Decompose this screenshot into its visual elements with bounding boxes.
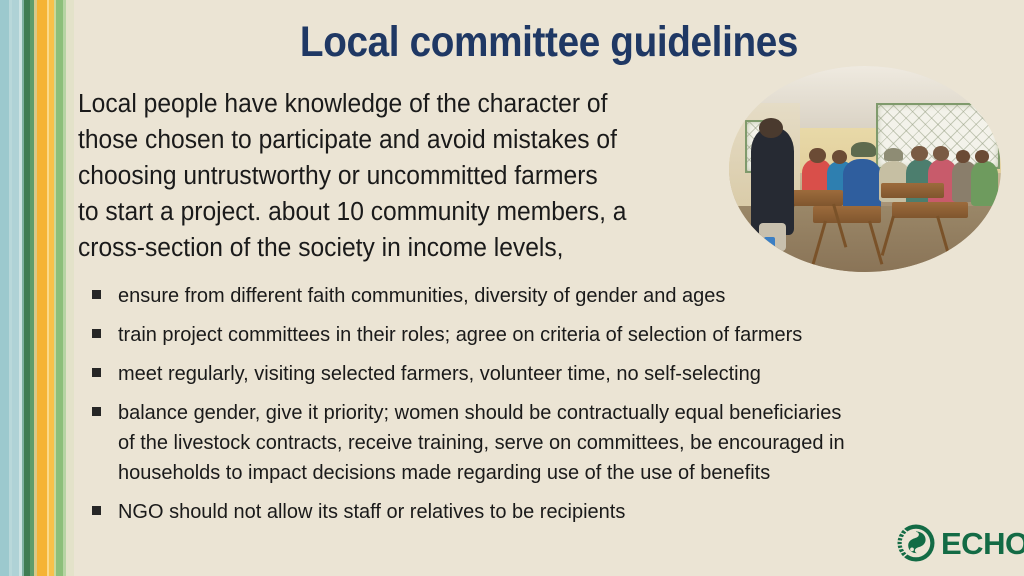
list-item-line: meet regularly, visiting selected farmer…: [118, 359, 988, 389]
square-bullet-icon: [92, 407, 101, 416]
photo-person-head: [933, 146, 949, 160]
intro-line: those chosen to participate and avoid mi…: [78, 122, 696, 158]
classroom-photo: [729, 66, 1001, 272]
list-item-line: NGO should not allow its staff or relati…: [118, 497, 988, 527]
echo-logo: ECHO®: [896, 520, 1014, 566]
photo-person-head: [956, 150, 970, 162]
slide-canvas: Local committee guidelines Local people …: [0, 0, 1024, 576]
photo-person-seated: [843, 159, 881, 211]
intro-paragraph: Local people have knowledge of the chara…: [78, 86, 696, 266]
stripe-15: [66, 0, 74, 576]
list-item: train project committees in their roles;…: [92, 320, 1010, 350]
photo-person-seated: [971, 161, 998, 206]
photo-water-bottle: [764, 237, 775, 256]
intro-line: to start a project. about 10 community m…: [78, 194, 696, 230]
echo-wordmark: ECHO®: [941, 528, 1024, 559]
square-bullet-icon: [92, 329, 101, 338]
square-bullet-icon: [92, 290, 101, 299]
guidelines-bullet-list: ensure from different faith communities,…: [92, 281, 1010, 536]
list-item-text: ensure from different faith communities,…: [118, 281, 988, 311]
list-item-text: meet regularly, visiting selected farmer…: [118, 359, 988, 389]
list-item-text: train project committees in their roles;…: [118, 320, 988, 350]
slide-title: Local committee guidelines: [122, 18, 977, 67]
list-item-text: balance gender, give it priority; women …: [118, 398, 988, 488]
intro-line: Local people have knowledge of the chara…: [78, 86, 696, 122]
square-bullet-icon: [92, 368, 101, 377]
list-item-line: ensure from different faith communities,…: [118, 281, 988, 311]
photo-person-head: [809, 148, 825, 162]
list-item-text: NGO should not allow its staff or relati…: [118, 497, 988, 527]
list-item: balance gender, give it priority; women …: [92, 398, 1010, 488]
photo-person-head: [975, 150, 989, 162]
intro-line: choosing untrustworthy or uncommitted fa…: [78, 158, 696, 194]
echo-wordmark-text: ECHO: [941, 526, 1024, 561]
square-bullet-icon: [92, 506, 101, 515]
stripe-3: [12, 0, 19, 576]
list-item-line: of the livestock contracts, receive trai…: [118, 428, 988, 458]
photo-person-cap: [884, 148, 903, 160]
photo-desk: [892, 202, 968, 218]
list-item-line: households to impact decisions made rega…: [118, 458, 988, 488]
echo-circle-leaf-emblem-icon: [896, 523, 936, 563]
photo-person-cap: [851, 142, 875, 156]
photo-person-head: [911, 146, 927, 160]
list-item: ensure from different faith communities,…: [92, 281, 1010, 311]
intro-line: cross-section of the society in income l…: [78, 230, 696, 266]
list-item: NGO should not allow its staff or relati…: [92, 497, 1010, 527]
list-item-line: train project committees in their roles;…: [118, 320, 988, 350]
photo-desk: [881, 183, 944, 197]
stripe-1: [0, 0, 9, 576]
photo-person-standing: [751, 128, 795, 235]
list-item-line: balance gender, give it priority; women …: [118, 398, 988, 428]
stripe-9: [37, 0, 47, 576]
decorative-stripe-band: [0, 0, 74, 576]
list-item: meet regularly, visiting selected farmer…: [92, 359, 1010, 389]
